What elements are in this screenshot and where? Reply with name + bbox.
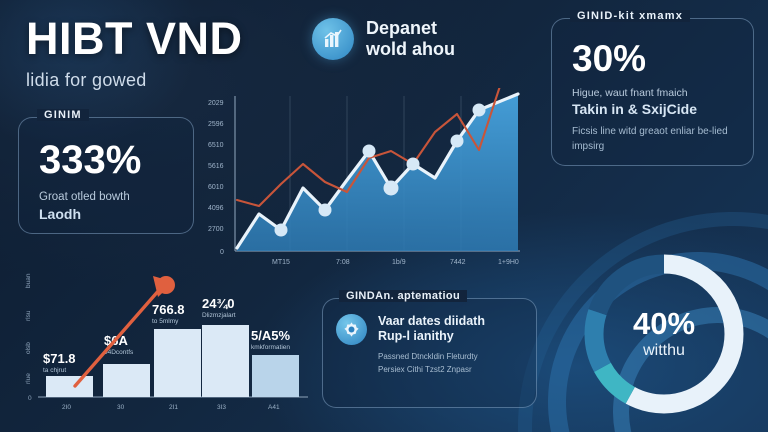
bar-chart-y-axis: buan rlsu olsb rlue 0 bbox=[25, 273, 32, 402]
card-share-tag: GINID-kit xmamx bbox=[570, 10, 690, 22]
bar bbox=[252, 355, 299, 397]
bar-y-tick: olsb bbox=[25, 342, 32, 354]
donut-chart: 40% witthu bbox=[578, 248, 750, 420]
y-tick: 2700 bbox=[208, 226, 224, 233]
bar bbox=[154, 329, 201, 397]
badge-text: Depanet wold ahou bbox=[366, 18, 455, 60]
bar-y-tick: rlsu bbox=[25, 310, 32, 321]
card-insight-head-line2: Rup-l ianithy bbox=[378, 329, 485, 344]
y-tick: 6510 bbox=[208, 142, 224, 149]
x-tick: 7:08 bbox=[336, 259, 350, 266]
bar-caption: ta chjrut bbox=[43, 367, 66, 374]
badge-text-line1: Depanet bbox=[366, 18, 455, 39]
bar-caption: kmkformatien bbox=[251, 344, 290, 351]
bar-x-tick: 3I3 bbox=[217, 404, 226, 411]
line-chart-y-axis: 2029 2596 6510 5616 6010 4096 2700 0 bbox=[208, 100, 224, 256]
card-insight-text: Vaar dates diidath Rup-l ianithy Passned… bbox=[378, 314, 485, 374]
bar-value: 5/A5% bbox=[251, 328, 290, 343]
stat-card-growth: GINIM 333% Groat otled bowth Laodh bbox=[18, 117, 194, 234]
chart-badge-icon bbox=[312, 18, 354, 60]
bar-x-tick: 2I0 bbox=[62, 404, 71, 411]
card-share-footer: Ficsis line witd greaot enliar be-lied i… bbox=[572, 125, 740, 154]
bar-value: 24¾0 bbox=[202, 296, 235, 311]
bar-value: 766.8 bbox=[152, 302, 185, 317]
card-insight-line1: Passned Dtnckldin Fleturdty bbox=[378, 352, 485, 361]
data-point bbox=[363, 145, 376, 158]
data-point bbox=[384, 181, 399, 196]
y-tick: 2596 bbox=[208, 121, 224, 128]
gear-badge-icon bbox=[336, 314, 367, 345]
line-area-chart: 2029 2596 6510 5616 6010 4096 2700 0 bbox=[202, 88, 522, 278]
bar-caption: Dlizmzjalart bbox=[202, 312, 236, 319]
stat-card-share: GINID-kit xmamx 30% Higue, waut fnant fm… bbox=[551, 18, 754, 166]
y-tick: 6010 bbox=[208, 184, 224, 191]
bar bbox=[103, 364, 150, 397]
x-tick: 7442 bbox=[450, 259, 466, 266]
title-block: HIBT VND lidia for gowed bbox=[26, 16, 326, 91]
y-tick: 4096 bbox=[208, 205, 224, 212]
badge-header: Depanet wold ahou bbox=[312, 18, 455, 60]
bar bbox=[46, 376, 93, 397]
bar-caption: to 5mlmy bbox=[152, 318, 179, 325]
card-growth-tag: GINIM bbox=[37, 109, 89, 121]
bar-y-tick: 0 bbox=[28, 395, 32, 402]
card-insight-tag: GINDAn. aptematiou bbox=[339, 290, 467, 302]
data-point bbox=[319, 204, 332, 217]
page-title: HIBT VND bbox=[26, 16, 326, 61]
card-insight-head-line1: Vaar dates diidath bbox=[378, 314, 485, 329]
y-tick: 5616 bbox=[208, 163, 224, 170]
x-tick: 1b/9 bbox=[392, 259, 406, 266]
card-insight-body: Vaar dates diidath Rup-l ianithy Passned… bbox=[323, 299, 536, 374]
data-point bbox=[473, 104, 486, 117]
card-share-sub2: Takin in & SxijCide bbox=[572, 101, 753, 117]
data-point bbox=[407, 158, 420, 171]
data-point bbox=[275, 224, 288, 237]
card-growth-sub: Groat otled bowth bbox=[39, 191, 193, 203]
bar-x-tick: 30 bbox=[117, 404, 125, 411]
infographic-canvas: HIBT VND lidia for gowed Depanet wold ah… bbox=[0, 0, 768, 432]
card-insight-head: Vaar dates diidath Rup-l ianithy bbox=[378, 314, 485, 345]
data-point bbox=[451, 135, 464, 148]
bar-value: $71.8 bbox=[43, 351, 76, 366]
card-share-value: 30% bbox=[572, 40, 753, 77]
card-growth-sub2: Laodh bbox=[39, 206, 193, 222]
bar-x-tick: A41 bbox=[268, 404, 280, 411]
bar bbox=[202, 325, 249, 397]
card-growth-value: 333% bbox=[39, 140, 193, 180]
line-chart-x-axis: MT15 7:08 1b/9 7442 1+9H0 bbox=[272, 259, 519, 266]
stat-card-insight: GINDAn. aptematiou Vaar dates diidath Ru… bbox=[322, 298, 537, 408]
bar-chart: buan rlsu olsb rlue 0 $71.8 ta chjrut $6… bbox=[12, 266, 312, 426]
bar-y-tick: buan bbox=[25, 273, 32, 288]
x-tick: 1+9H0 bbox=[498, 259, 519, 266]
card-share-sub: Higue, waut fnant fmaich bbox=[572, 87, 753, 99]
x-tick: MT15 bbox=[272, 259, 290, 266]
y-tick: 2029 bbox=[208, 100, 224, 107]
bar-y-tick: rlue bbox=[25, 373, 32, 384]
bar-x-tick: 2I1 bbox=[169, 404, 178, 411]
badge-text-line2: wold ahou bbox=[366, 39, 455, 60]
bar-chart-x-axis: 2I0 30 2I1 3I3 A41 bbox=[62, 404, 280, 411]
card-insight-line2: Persiex Cithi Tzst2 Znpasr bbox=[378, 365, 485, 374]
y-tick: 0 bbox=[220, 249, 224, 256]
